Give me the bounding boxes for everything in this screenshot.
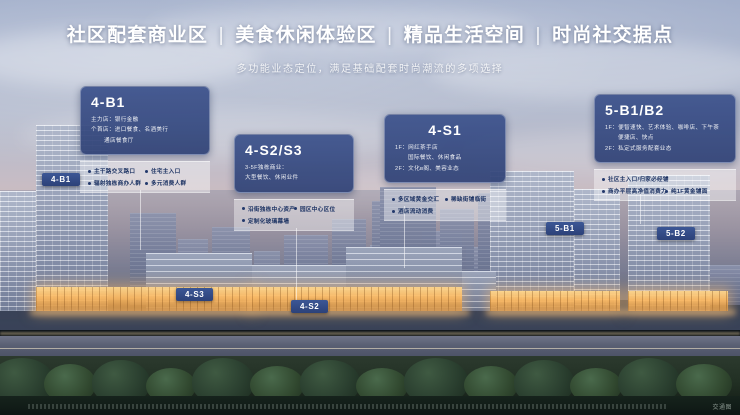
bullet-item: 住宅主入口 <box>145 167 202 175</box>
bullet-item: 酒店流动消费 <box>392 207 498 215</box>
bullet-item: 定制化玻璃幕墙 <box>242 217 346 225</box>
retail-light-band <box>252 287 462 311</box>
title-part-1: 社区配套商业区 <box>67 25 208 46</box>
bullet-item: 纯1F黄金铺面 <box>665 187 728 195</box>
kerb-glow <box>0 332 740 335</box>
building-tag-5-b2[interactable]: 5-B2 <box>657 227 695 240</box>
callout-card: 4-S2/S3 3-5F独栋商业： 大型餐饮、休闲业件 <box>234 134 354 193</box>
callout-bullets: 社区主入口/归家必经铺 商办平层高净值消费力 纯1F黄金铺面 <box>594 169 736 201</box>
leader-line-4-s2 <box>296 228 297 300</box>
callout-title: 4-B1 <box>91 94 199 110</box>
callout-lines: 3-5F独栋商业： 大型餐饮、休闲业件 <box>245 163 343 184</box>
callout-5-b1-b2[interactable]: 5-B1/B2 1F：便智速快、艺术体验、咖啡店、下午茶 便捷店、快点 2F：私… <box>594 94 736 201</box>
callout-line: 主力店：银行金融 <box>91 115 199 125</box>
leader-line-4-b1 <box>140 190 141 250</box>
bullet-item: 多区域黄金交汇 <box>392 195 445 203</box>
callout-4-s1[interactable]: 4-S1 1F：网红茶手店 国际餐饮、休闲食品 2F：文化в阁、美容业态 多区域… <box>384 114 506 221</box>
callout-lines: 1F：便智速快、艺术体验、咖啡店、下午茶 便捷店、快点 2F：私定式服务配套业态 <box>605 123 725 154</box>
callout-line: 便捷店、快点 <box>605 133 725 143</box>
street-glow <box>30 310 470 315</box>
retail-light-band <box>490 291 620 311</box>
callout-lines: 1F：网红茶手店 国际餐饮、休闲食品 2F：文化в阁、美容业态 <box>395 143 495 174</box>
title-separator: | <box>531 25 545 46</box>
callout-bullets: 沿街独栋中心资产 园区中心区位 定制化玻璃幕墙 <box>234 199 354 231</box>
callout-lines: 主力店：银行金融 个首店：进口餐食、名酒美行 通店餐食厅 <box>91 115 199 146</box>
promo-render-canvas: 交通图 社区配套商业区 | 美食休闲体验区 | 精品生活空间 | 时尚社交据点 … <box>0 0 740 415</box>
bullet-item: 社区主入口/归家必经铺 <box>602 175 728 183</box>
bullet-item: 园区中心区位 <box>294 205 346 213</box>
callout-line: 2F：文化в阁、美容业态 <box>395 164 495 174</box>
bullet-item: 辐射独栋商办人群 <box>88 179 145 187</box>
title-separator: | <box>215 25 229 46</box>
bullet-item: 多元消费人群 <box>145 179 202 187</box>
bullet-item: 主干路交叉路口 <box>88 167 145 175</box>
callout-line: 通店餐食厅 <box>91 136 199 146</box>
callout-title: 4-S1 <box>395 122 495 138</box>
callout-line: 1F：便智速快、艺术体验、咖啡店、下午茶 <box>605 123 725 133</box>
building-tag-4-s3[interactable]: 4-S3 <box>176 288 213 301</box>
page-subtitle: 多功能业态定位，满足基础配套时尚潮流的多项选择 <box>0 60 740 75</box>
callout-4-s2-s3[interactable]: 4-S2/S3 3-5F独栋商业： 大型餐饮、休闲业件 沿街独栋中心资产 园区中… <box>234 134 354 231</box>
title-part-4: 时尚社交据点 <box>552 25 673 46</box>
footer-mark: 交通图 <box>712 402 732 411</box>
bullet-item: 商办平层高净值消费力 <box>602 187 665 195</box>
bullet-item: 稀缺街铺临街 <box>445 195 498 203</box>
retail-light-band <box>36 287 252 311</box>
disclaimer-fineprint <box>28 404 668 409</box>
title-part-2: 美食休闲体验区 <box>235 25 376 46</box>
retail-light-band <box>628 291 728 311</box>
callout-line: 国际餐饮、休闲食品 <box>395 153 495 163</box>
callout-title: 4-S2/S3 <box>245 142 343 158</box>
callout-bullets: 多区域黄金交汇 稀缺街铺临街 酒店流动消费 <box>384 189 506 221</box>
building-tag-4-s2[interactable]: 4-S2 <box>291 300 328 313</box>
callout-line: 1F：网红茶手店 <box>395 143 495 153</box>
callout-line: 个首店：进口餐食、名酒美行 <box>91 125 199 135</box>
tower-left-edge <box>0 191 36 311</box>
title-part-3: 精品生活空间 <box>404 25 525 46</box>
bullet-item: 沿街独栋中心资产 <box>242 205 294 213</box>
callout-card: 4-S1 1F：网红茶手店 国际餐饮、休闲食品 2F：文化в阁、美容业态 <box>384 114 506 183</box>
building-tag-5-b1[interactable]: 5-B1 <box>546 222 584 235</box>
page-title: 社区配套商业区 | 美食休闲体验区 | 精品生活空间 | 时尚社交据点 <box>0 20 740 47</box>
callout-line: 2F：私定式服务配套业态 <box>605 144 725 154</box>
callout-line: 3-5F独栋商业： <box>245 163 343 173</box>
road-centerline <box>0 348 740 349</box>
title-separator: | <box>383 25 397 46</box>
callout-title: 5-B1/B2 <box>605 102 725 118</box>
callout-card: 4-B1 主力店：银行金融 个首店：进口餐食、名酒美行 通店餐食厅 <box>80 86 210 155</box>
callout-bullets: 主干路交叉路口 住宅主入口 辐射独栋商办人群 多元消费人群 <box>80 161 210 193</box>
building-tag-4-b1[interactable]: 4-B1 <box>42 173 80 186</box>
callout-4-b1[interactable]: 4-B1 主力店：银行金融 个首店：进口餐食、名酒美行 通店餐食厅 主干路交叉路… <box>80 86 210 193</box>
street-glow <box>486 310 736 315</box>
callout-line: 大型餐饮、休闲业件 <box>245 173 343 183</box>
callout-card: 5-B1/B2 1F：便智速快、艺术体验、咖啡店、下午茶 便捷店、快点 2F：私… <box>594 94 736 163</box>
